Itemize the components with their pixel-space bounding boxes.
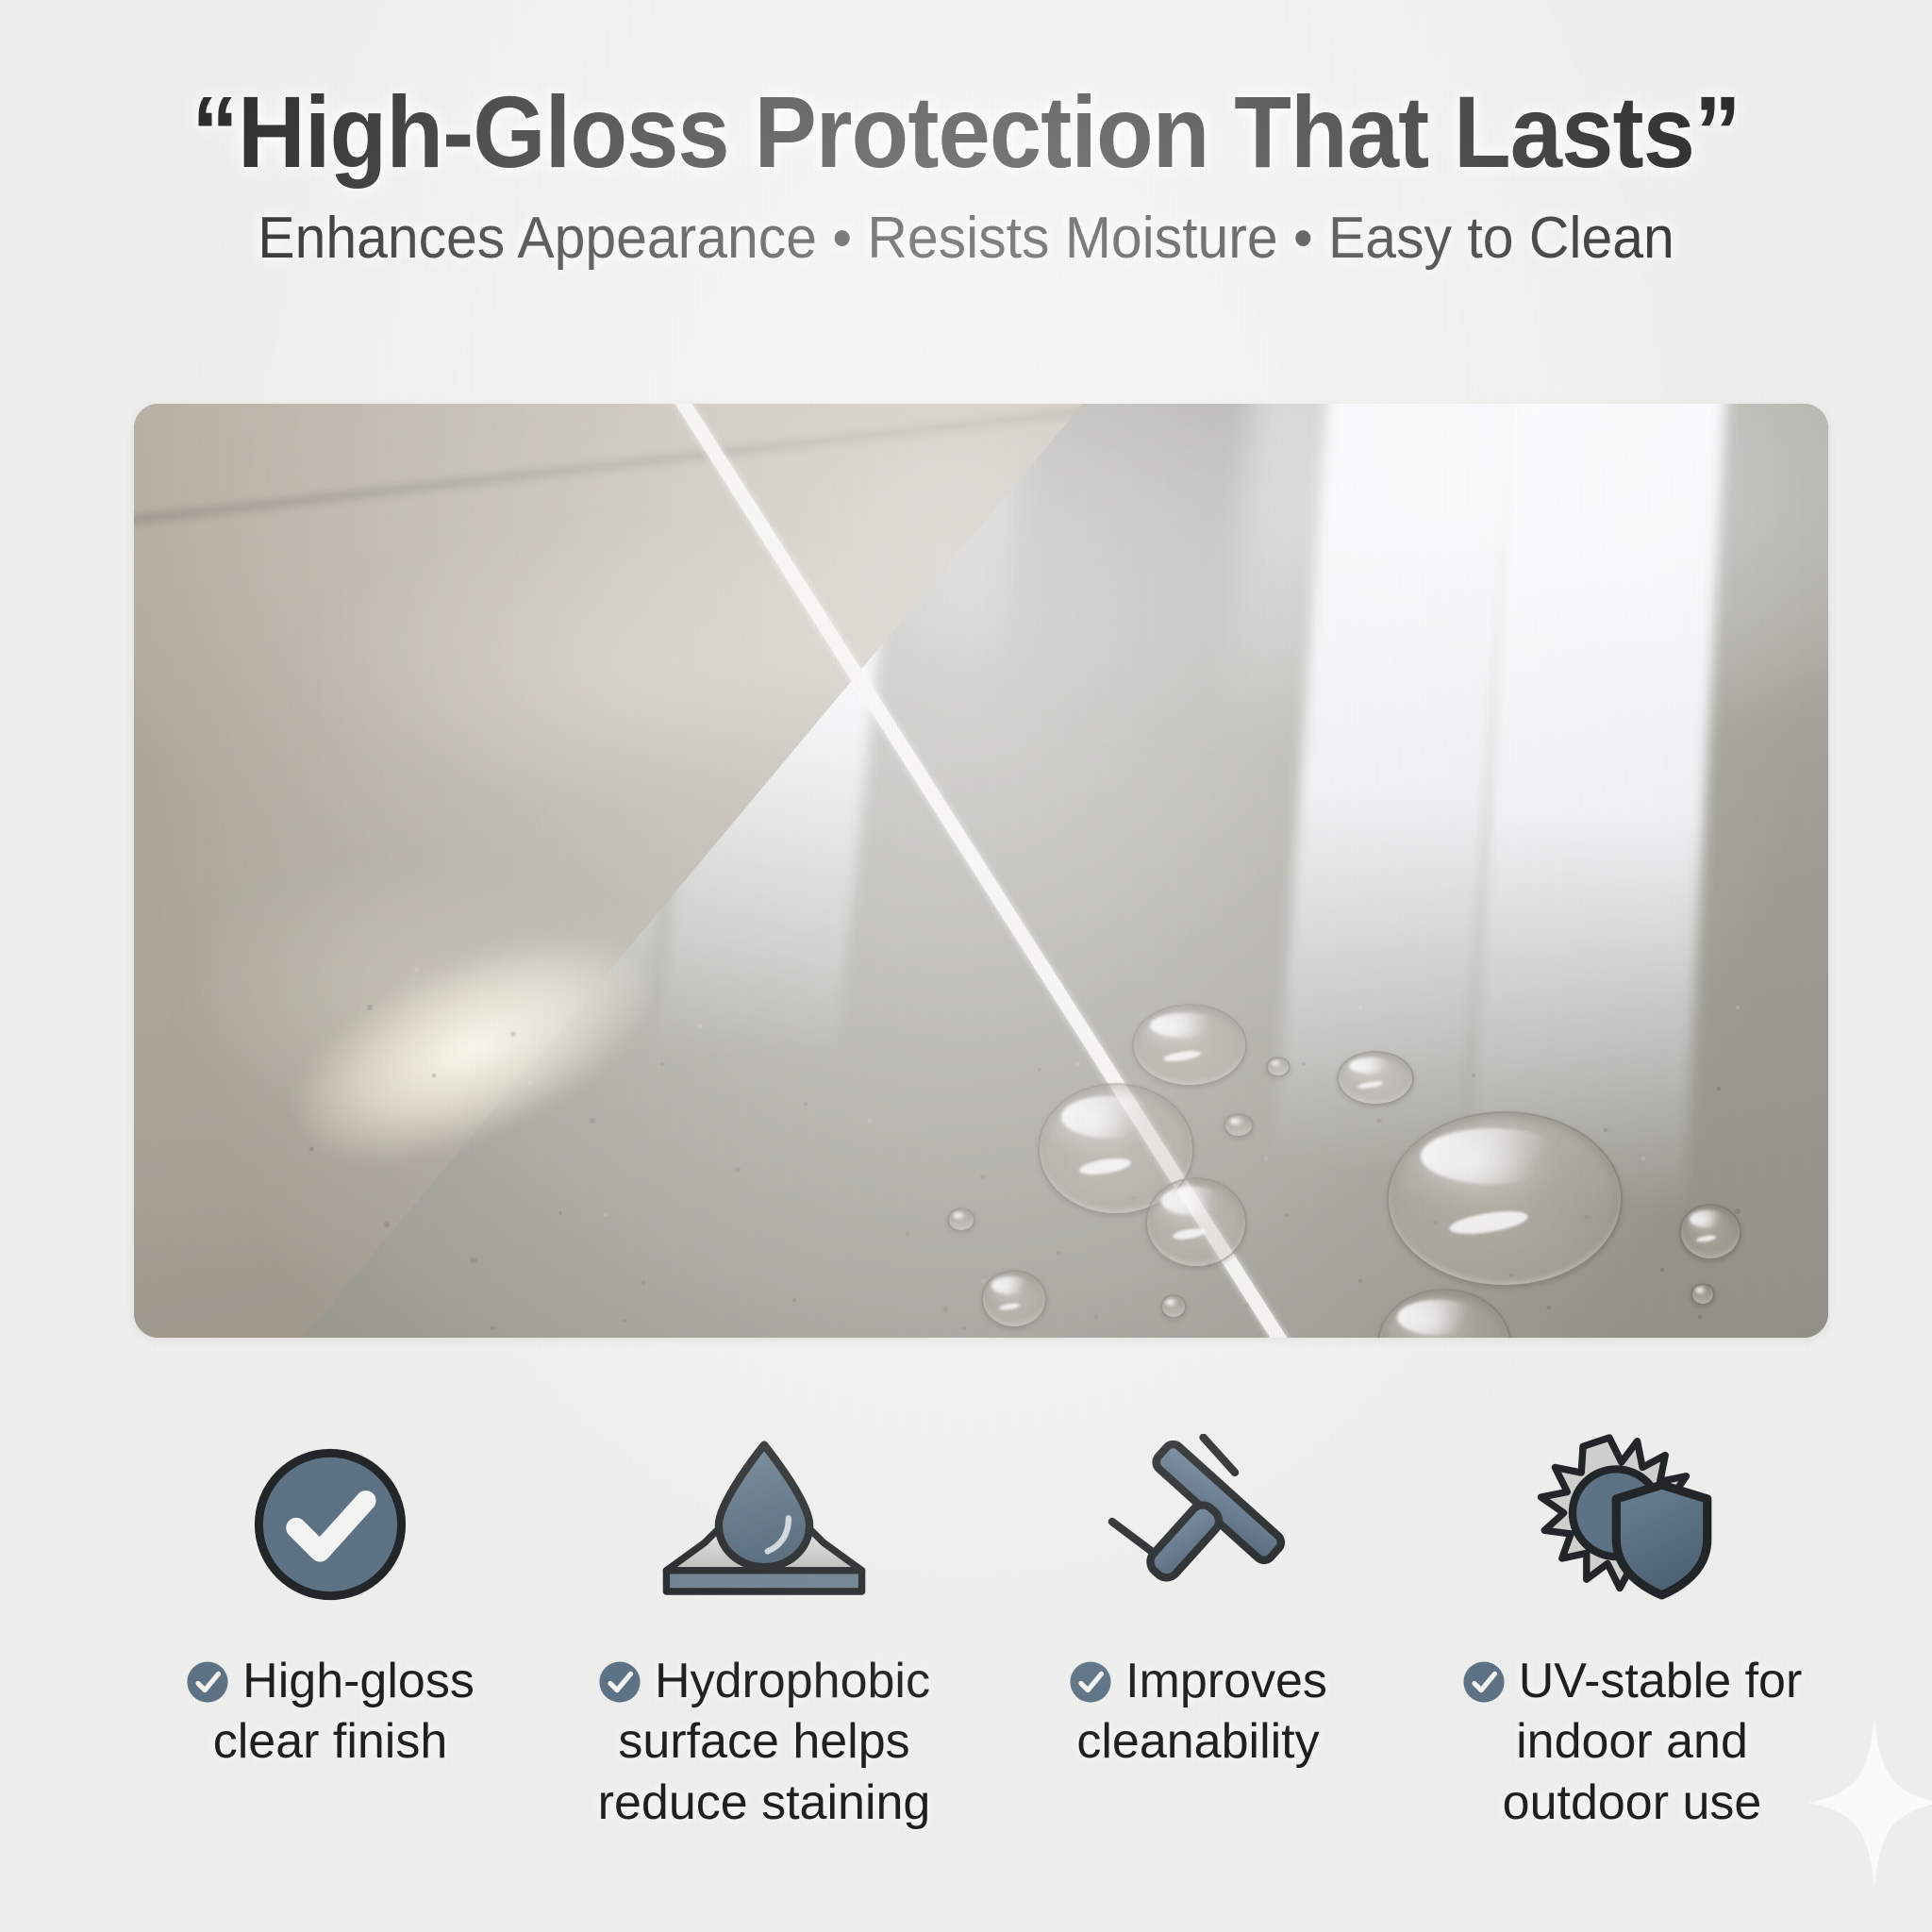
water-droplet	[1690, 1283, 1715, 1306]
water-droplet	[947, 1207, 975, 1232]
feature-caption: High-gloss clear finish	[186, 1651, 475, 1773]
feature-caption-line: clear finish	[213, 1714, 448, 1769]
page-title: “High-Gloss Protection That Lasts”	[77, 81, 1855, 183]
feature-caption-line: cleanability	[1076, 1714, 1319, 1769]
feature-caption-line: reduce staining	[598, 1775, 931, 1830]
water-droplet	[1224, 1113, 1254, 1138]
header: “High-Gloss Protection That Lasts” Enhan…	[0, 0, 1932, 269]
feature-caption-line: surface helps	[618, 1714, 909, 1769]
feature-item-hydrophobic: Hydrophobic surface helps reduce stainin…	[547, 1434, 981, 1833]
check-badge-icon	[1462, 1660, 1506, 1704]
page-subtitle: Enhances Appearance • Resists Moisture •…	[48, 208, 1884, 269]
water-droplet-on-surface-icon	[659, 1434, 869, 1609]
water-droplet	[1679, 1204, 1741, 1260]
feature-caption: UV-stable for indoor and outdoor use	[1462, 1651, 1803, 1833]
water-droplet-cluster	[134, 404, 1828, 1338]
feature-list: High-gloss clear finish	[113, 1434, 1849, 1833]
check-circle-icon	[245, 1440, 415, 1609]
feature-caption-line: Hydrophobic	[655, 1654, 930, 1708]
feature-caption: Hydrophobic surface helps reduce stainin…	[598, 1651, 931, 1833]
squeegee-icon	[1099, 1434, 1297, 1609]
feature-caption-line: indoor and	[1516, 1714, 1748, 1769]
feature-item-uv-stable: UV-stable for indoor and outdoor use	[1415, 1434, 1849, 1833]
feature-item-high-gloss: High-gloss clear finish	[113, 1434, 547, 1833]
check-badge-icon	[186, 1660, 229, 1704]
check-badge-icon	[1069, 1660, 1112, 1704]
sun-shield-icon	[1536, 1434, 1728, 1609]
water-droplet	[1387, 1111, 1623, 1287]
water-droplet	[981, 1270, 1047, 1328]
water-droplet	[1160, 1294, 1187, 1319]
check-badge-icon	[598, 1660, 641, 1704]
water-droplet	[1377, 1289, 1511, 1338]
feature-item-cleanability: Improves cleanability	[981, 1434, 1415, 1833]
water-droplet	[1145, 1177, 1247, 1268]
feature-caption-line: Improves	[1125, 1654, 1327, 1708]
before-after-photo-panel	[134, 404, 1828, 1338]
four-point-sparkle-icon	[1804, 1713, 1932, 1892]
feature-icon-wrap	[1536, 1434, 1728, 1609]
water-droplet	[1337, 1051, 1414, 1106]
feature-icon-wrap	[245, 1434, 415, 1609]
water-droplet	[1132, 1004, 1247, 1087]
feature-icon-wrap	[659, 1434, 869, 1609]
feature-caption-line: UV-stable for	[1519, 1654, 1803, 1708]
feature-caption-line: High-gloss	[242, 1654, 475, 1708]
water-droplet	[1266, 1057, 1291, 1077]
feature-icon-wrap	[1099, 1434, 1297, 1609]
feature-caption: Improves cleanability	[1069, 1651, 1327, 1773]
feature-caption-line: outdoor use	[1503, 1775, 1762, 1830]
